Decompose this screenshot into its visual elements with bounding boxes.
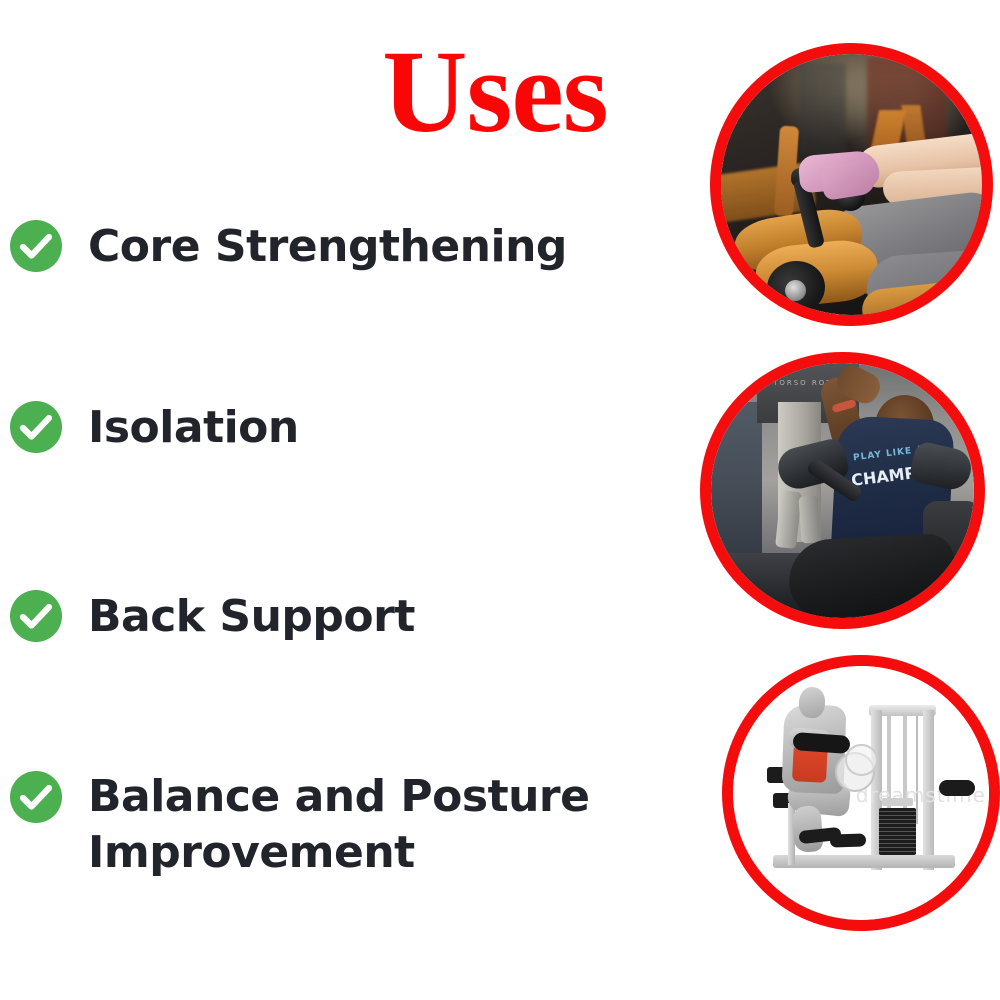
list-item: Isolation bbox=[10, 399, 299, 456]
check-circle-icon bbox=[10, 401, 62, 453]
ab-crunch-illustration: dreamstime bbox=[722, 655, 1000, 931]
photo-clip bbox=[721, 54, 982, 315]
list-item-label: Core Strengthening bbox=[88, 218, 567, 275]
list-item: Back Support bbox=[10, 588, 415, 645]
list-item: Balance and Posture Improvement bbox=[10, 769, 648, 882]
photo-clip: dreamstime bbox=[733, 666, 989, 920]
list-item-label: Balance and Posture Improvement bbox=[88, 769, 648, 882]
check-circle-icon bbox=[10, 590, 62, 642]
photo-scene: TORSO ROTATION PLAY LIKE A CHAMPION bbox=[711, 363, 974, 618]
list-item: Core Strengthening bbox=[10, 218, 567, 275]
infographic-canvas: Uses Core Strengthening Isolation bbox=[0, 0, 1000, 1000]
torso-rotation-machine-photo: TORSO ROTATION PLAY LIKE A CHAMPION bbox=[700, 352, 985, 629]
photo-scene: dreamstime bbox=[733, 666, 989, 920]
check-circle-icon bbox=[10, 771, 62, 823]
page-title: Uses bbox=[330, 33, 660, 151]
list-item-label: Isolation bbox=[88, 399, 299, 456]
gym-ab-machine-photo bbox=[710, 43, 993, 326]
list-item-label: Back Support bbox=[88, 588, 415, 645]
photo-scene bbox=[721, 54, 982, 315]
photo-clip: TORSO ROTATION PLAY LIKE A CHAMPION bbox=[711, 363, 974, 618]
check-circle-icon bbox=[10, 220, 62, 272]
